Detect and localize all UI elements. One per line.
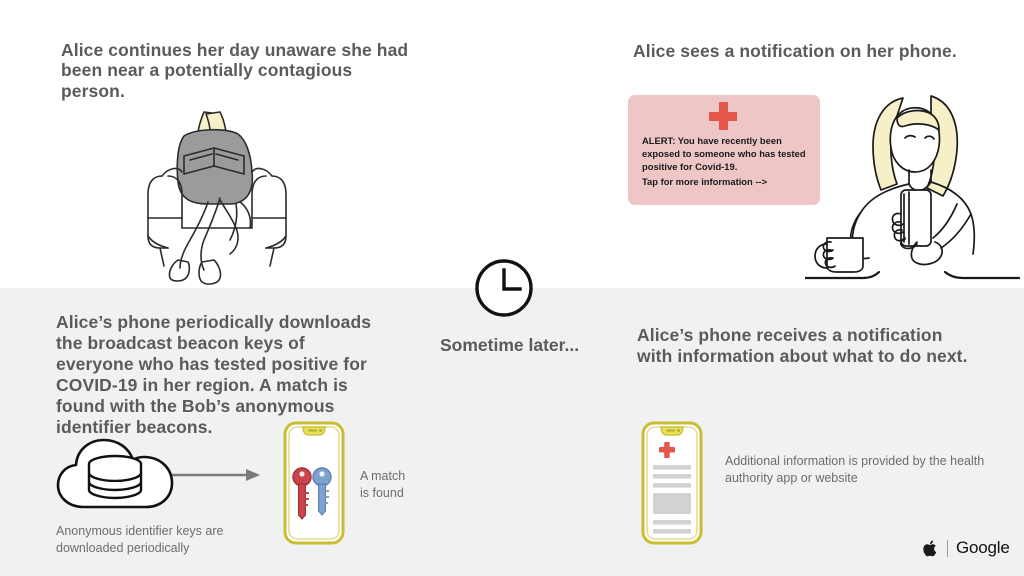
cloud-caption: Anonymous identifier keys are downloaded… [56, 523, 286, 557]
google-wordmark: Google [956, 538, 1010, 558]
top-right-heading: Alice sees a notification on her phone. [633, 41, 1013, 61]
apple-google-logo-lockup: Google [923, 536, 1013, 560]
health-authority-caption: Additional information is provided by th… [725, 453, 985, 487]
apple-logo-icon [923, 539, 939, 558]
cloud-database-icon [52, 435, 182, 515]
alert-tap-link[interactable]: Tap for more information --> [642, 176, 812, 187]
match-caption-line-1: A match [360, 468, 440, 485]
woman-holding-phone-illustration [805, 80, 1020, 280]
arrow-right-icon [172, 465, 262, 485]
sometime-later-label: Sometime later... [440, 334, 600, 358]
match-caption: A match is found [360, 468, 440, 502]
slide-canvas: Alice continues her day unaware she had … [0, 0, 1024, 576]
phone-with-two-keys-icon [283, 421, 345, 545]
bottom-right-heading: Alice’s phone receives a notification wi… [637, 325, 977, 367]
clock-icon [472, 256, 536, 320]
match-caption-line-2: is found [360, 485, 440, 502]
red-cross-icon [709, 102, 737, 130]
exposure-alert-card[interactable]: ALERT: You have recently been exposed to… [628, 95, 820, 205]
woman-reading-in-armchair-illustration [120, 90, 320, 290]
logo-divider [947, 540, 948, 557]
bottom-left-heading: Alice’s phone periodically downloads the… [56, 312, 386, 438]
alert-body-text: ALERT: You have recently been exposed to… [642, 135, 812, 174]
phone-health-app-icon [641, 421, 703, 545]
